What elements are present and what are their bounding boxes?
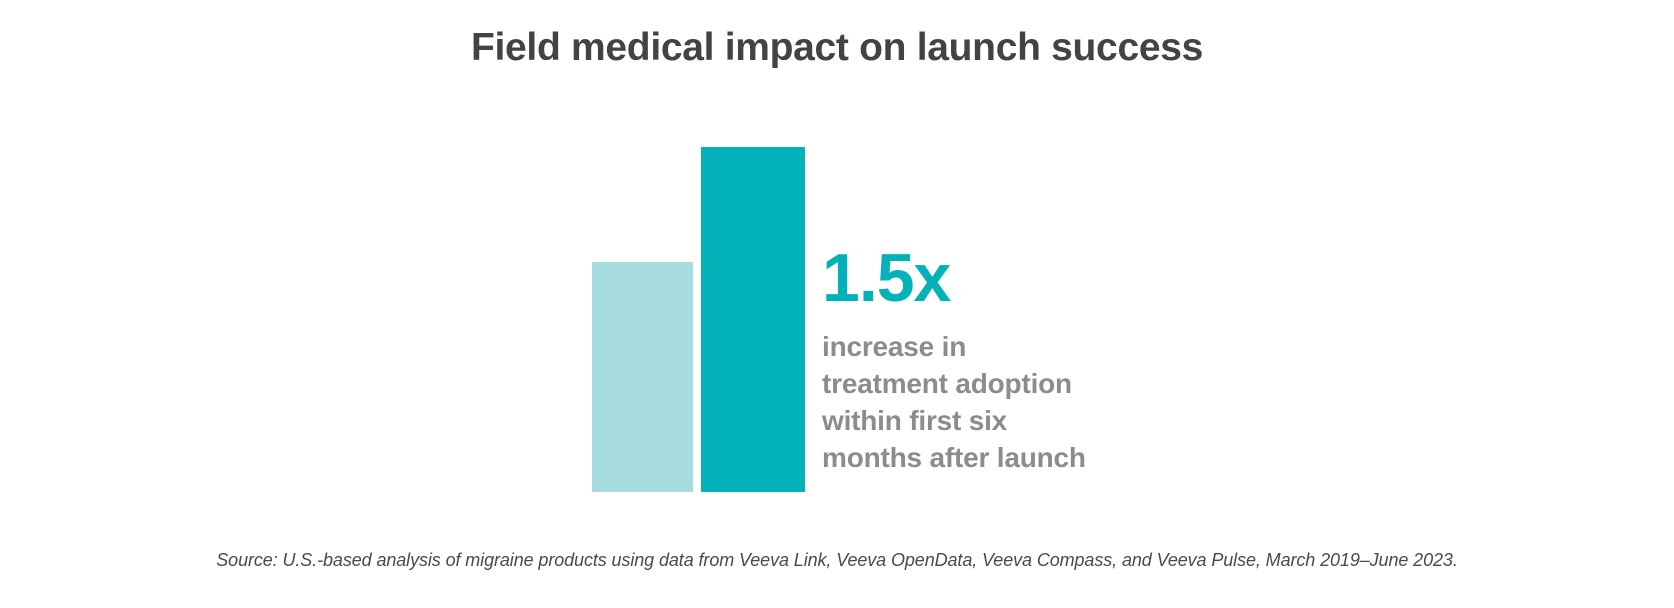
callout-description-line: increase in (822, 329, 1242, 366)
source-note: Source: U.S.-based analysis of migraine … (0, 550, 1674, 571)
callout-description-line: months after launch (822, 440, 1242, 477)
callout-value: 1.5x (822, 244, 1242, 312)
callout-description-line: treatment adoption (822, 366, 1242, 403)
chart-figure: Field medical impact on launch success 1… (0, 0, 1674, 608)
bar-highlight (701, 147, 805, 492)
callout-block: 1.5x increase in treatment adoption with… (822, 244, 1242, 477)
callout-description-line: within first six (822, 403, 1242, 440)
bar-baseline (592, 262, 693, 492)
callout-description: increase in treatment adoption within fi… (822, 329, 1242, 477)
